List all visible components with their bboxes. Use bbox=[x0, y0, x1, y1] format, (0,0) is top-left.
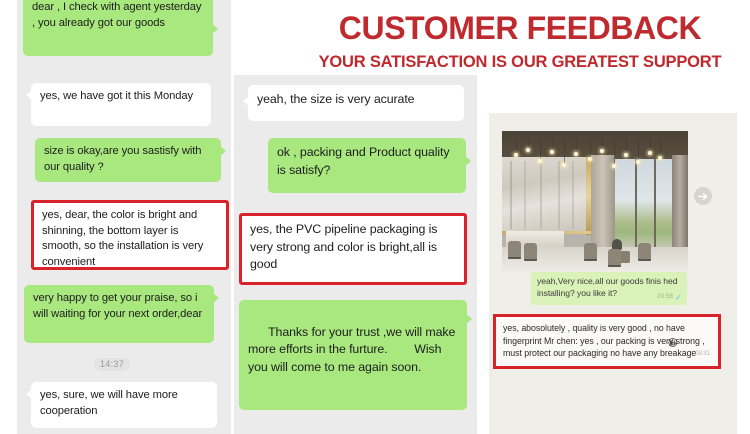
pendant-light bbox=[588, 157, 592, 161]
chat-timestamp: 09:31 bbox=[695, 348, 710, 361]
chat-message-text: very happy to get your praise, so i will… bbox=[33, 292, 202, 320]
pendant-light bbox=[526, 148, 530, 152]
bubble-tail-icon bbox=[213, 293, 219, 303]
pendant-light bbox=[648, 151, 652, 155]
bubble-tail-icon bbox=[26, 90, 32, 100]
chat-bubble-outgoing[interactable]: very happy to get your praise, so i will… bbox=[24, 285, 214, 343]
pendant-wire bbox=[602, 139, 603, 149]
lounge-chair bbox=[508, 241, 521, 259]
pendant-light bbox=[624, 153, 628, 157]
pendant-light bbox=[574, 152, 578, 156]
pendant-light bbox=[562, 163, 566, 167]
chat-bubble-incoming-highlighted[interactable]: yes, dear, the color is bright and shinn… bbox=[31, 200, 229, 270]
photo-caption-time: 20:58 bbox=[657, 292, 673, 304]
chat-bubble-incoming[interactable]: yes, sure, we will have more cooperation bbox=[31, 382, 217, 428]
header-block: CUSTOMER FEEDBACK YOUR SATISFACTION IS O… bbox=[300, 8, 740, 70]
photo-caption-bubble[interactable]: yeah,Very nice,all our goods finis hed i… bbox=[531, 272, 687, 305]
pendant-wire bbox=[650, 139, 651, 151]
pendant-wire bbox=[576, 139, 577, 152]
chat-bubble-incoming[interactable]: yes, we have got it this Monday bbox=[31, 83, 211, 126]
pendant-wire bbox=[540, 139, 541, 159]
photo-caption-meta: 20:58 ✓ bbox=[657, 292, 682, 304]
chat-timestamp: 14:37 bbox=[94, 358, 130, 371]
chat-bubble-outgoing[interactable]: ok , packing and Product quality is sati… bbox=[268, 138, 466, 193]
chat-bubble-incoming-highlighted[interactable]: yes, abosolutely , quality is very good … bbox=[493, 314, 721, 369]
chat-message-text: yeah, the size is very acurate bbox=[257, 92, 414, 106]
read-receipt-icon: ✓ bbox=[675, 292, 682, 304]
chat-message-text: yes, the PVC pipeline packaging is very … bbox=[250, 222, 437, 271]
right-chat-panel: yeah,Very nice,all our goods finis hed i… bbox=[489, 113, 737, 434]
forward-arrow-icon[interactable] bbox=[694, 187, 712, 205]
feedback-banner: CUSTOMER FEEDBACK YOUR SATISFACTION IS O… bbox=[0, 0, 750, 434]
lobby-photo-render bbox=[502, 131, 688, 272]
pendant-wire bbox=[564, 139, 565, 163]
window-mullion bbox=[654, 159, 656, 251]
chat-message-text: yes, sure, we will have more cooperation bbox=[40, 389, 178, 417]
lounge-chair bbox=[524, 243, 537, 261]
pendant-light bbox=[636, 160, 640, 164]
chat-message-text: dear , I check with agent yesterday , yo… bbox=[32, 1, 201, 29]
chat-bubble-outgoing[interactable]: size is okay,are you sastisfy with our q… bbox=[35, 138, 221, 182]
pendant-wire bbox=[626, 139, 627, 153]
middle-chat-panel: yeah, the size is very acurate ok , pack… bbox=[234, 75, 477, 434]
chat-bubble-outgoing[interactable]: dear , I check with agent yesterday , yo… bbox=[23, 0, 213, 56]
chat-message-text: yes, dear, the color is bright and shinn… bbox=[42, 209, 203, 268]
chat-bubble-incoming-highlighted[interactable]: yes, the PVC pipeline packaging is very … bbox=[239, 213, 467, 285]
left-chat-panel: dear , I check with agent yesterday , yo… bbox=[17, 0, 231, 434]
page-title: CUSTOMER FEEDBACK bbox=[300, 8, 740, 48]
pendant-wire bbox=[638, 139, 639, 160]
chat-message-text: ok , packing and Product quality is sati… bbox=[277, 145, 449, 177]
lobby-photo[interactable] bbox=[502, 131, 688, 272]
pendant-light bbox=[514, 153, 518, 157]
pendant-wire bbox=[660, 139, 661, 156]
chat-message-text: size is okay,are you sastisfy with our q… bbox=[44, 145, 201, 173]
pendant-light bbox=[550, 150, 554, 154]
bubble-tail-icon bbox=[26, 389, 32, 399]
window-mullion bbox=[635, 159, 637, 251]
marble-wall bbox=[502, 157, 586, 233]
bubble-tail-icon bbox=[220, 146, 226, 156]
smiley-emoji-icon: 😀 bbox=[668, 338, 678, 351]
pendant-light bbox=[600, 149, 604, 153]
pendant-wire bbox=[516, 139, 517, 153]
chat-message-text: Thanks for your trust ,we will make more… bbox=[248, 325, 459, 374]
bubble-tail-icon bbox=[466, 314, 472, 324]
lounge-chair bbox=[584, 243, 597, 261]
lounge-chair bbox=[608, 249, 621, 267]
chat-message-text: yes, we have got it this Monday bbox=[40, 90, 193, 102]
chat-bubble-outgoing[interactable]: Thanks for your trust ,we will make more… bbox=[239, 300, 467, 410]
chat-bubble-incoming[interactable]: yeah, the size is very acurate bbox=[248, 85, 464, 121]
right-wall bbox=[672, 155, 688, 253]
pendant-wire bbox=[614, 139, 615, 164]
pendant-light bbox=[538, 159, 542, 163]
bubble-tail-icon bbox=[243, 96, 249, 106]
pendant-wire bbox=[590, 139, 591, 157]
page-subtitle: YOUR SATISFACTION IS OUR GREATEST SUPPOR… bbox=[300, 52, 740, 72]
pendant-light bbox=[658, 156, 662, 160]
pendant-light bbox=[612, 164, 616, 168]
pendant-wire bbox=[528, 139, 529, 148]
lounge-chair bbox=[638, 243, 651, 261]
pillar bbox=[591, 155, 615, 247]
pendant-wire bbox=[552, 139, 553, 150]
bubble-tail-icon bbox=[465, 156, 471, 166]
glass-facade bbox=[615, 159, 675, 251]
bubble-tail-icon bbox=[212, 24, 218, 34]
